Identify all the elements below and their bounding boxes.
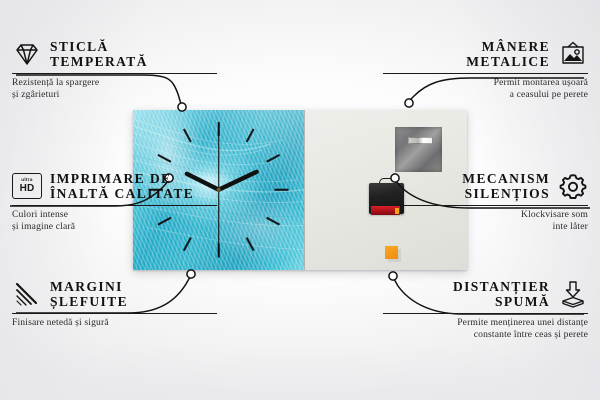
hour-hand (219, 172, 257, 190)
feature-header: DISTANȚIER SPUMĂ (383, 278, 588, 310)
feature-block-spacer: DISTANȚIER SPUMĂ Permite menținerea unei… (383, 278, 588, 341)
foam-spacer-arrow-icon (558, 279, 588, 309)
ultra-hd-icon: ultra HD (12, 171, 42, 201)
feature-title: MARGINI ȘLEFUITE (50, 279, 128, 309)
feature-divider (383, 205, 588, 206)
feature-subtitle: Permite menținerea unei distanțe constan… (383, 317, 588, 341)
polished-edge-icon (12, 279, 42, 309)
feature-divider (12, 205, 217, 206)
hd-badge-large-text: HD (20, 184, 35, 194)
feature-title: IMPRIMARE DE ÎNALTĂ CALITATE (50, 171, 194, 201)
feature-divider (383, 313, 588, 314)
feature-header: MÂNERE METALICE (383, 38, 588, 70)
feature-title: MECANISM SILENȚIOS (462, 171, 550, 201)
feature-divider (12, 313, 217, 314)
feature-subtitle: Culori intense și imagine clară (12, 209, 217, 233)
feature-header: MECANISM SILENȚIOS (383, 170, 588, 202)
feature-block-edges: MARGINI ȘLEFUITE Finisare netedă și sigu… (12, 278, 217, 329)
feature-block-print: ultra HD IMPRIMARE DE ÎNALTĂ CALITATE Cu… (12, 170, 217, 233)
feature-subtitle: Klockvisare som inte låter (383, 209, 588, 233)
feature-divider (383, 73, 588, 74)
gear-icon (558, 171, 588, 201)
feature-block-mechanism: MECANISM SILENȚIOS Klockvisare som inte … (383, 170, 588, 233)
picture-frame-hanger-icon (558, 39, 588, 69)
feature-block-glass: STICLĂ TEMPERATĂ Rezistență la spargere … (12, 38, 217, 101)
product-feature-infographic: STICLĂ TEMPERATĂ Rezistență la spargere … (0, 0, 600, 400)
feature-title: STICLĂ TEMPERATĂ (50, 39, 148, 69)
clock-center-pin (217, 188, 221, 192)
feature-divider (12, 73, 217, 74)
feature-subtitle: Finisare netedă și sigură (12, 317, 217, 329)
feature-subtitle: Rezistență la spargere și zgârieturi (12, 77, 217, 101)
feature-header: MARGINI ȘLEFUITE (12, 278, 217, 310)
feature-block-handles: MÂNERE METALICE Permit montarea ușoară a… (383, 38, 588, 101)
feature-subtitle: Permit montarea ușoară a ceasului pe per… (383, 77, 588, 101)
foam-spacer-pad (385, 246, 398, 259)
feature-header: ultra HD IMPRIMARE DE ÎNALTĂ CALITATE (12, 170, 217, 202)
diamond-icon (12, 39, 42, 69)
metal-hanger-plate (395, 127, 442, 172)
feature-title: DISTANȚIER SPUMĂ (453, 279, 550, 309)
connector-dot-edges (187, 270, 195, 278)
feature-title: MÂNERE METALICE (466, 39, 550, 69)
feature-header: STICLĂ TEMPERATĂ (12, 38, 217, 70)
